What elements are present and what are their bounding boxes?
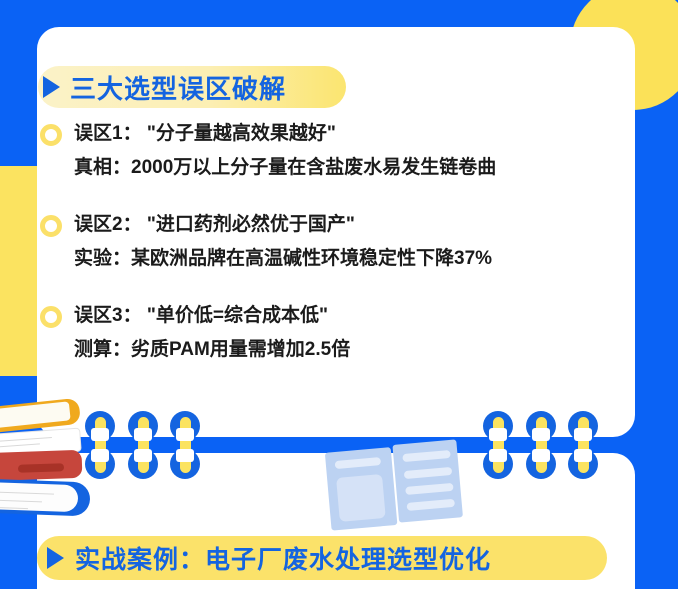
ring-bullet-icon: [40, 306, 62, 328]
page-title-text: 三大选型误区破解: [70, 69, 286, 106]
spiral-binder-ring-icon: [170, 411, 200, 479]
spiral-binder-ring-icon: [568, 411, 598, 479]
spiral-binder-ring-icon: [526, 411, 556, 479]
list-item-body: 误区1： "分子量越高效果越好" 真相：2000万以上分子量在含盐废水易发生链卷…: [74, 120, 496, 182]
myth-detail: 实验：某欧洲品牌在高温碱性环境稳定性下降37%: [74, 245, 492, 274]
poster-canvas: 三大选型误区破解 误区1： "分子量越高效果越好" 真相：2000万以上分子量在…: [0, 0, 678, 589]
triangle-right-icon: [43, 76, 60, 98]
footer-banner-text: 实战案例：电子厂废水处理选型优化: [75, 540, 491, 576]
myth-detail: 真相：2000万以上分子量在含盐废水易发生链卷曲: [74, 154, 496, 183]
stack-of-books-illustration: [0, 404, 110, 544]
list-item-body: 误区3： "单价低=综合成本低" 测算：劣质PAM用量需增加2.5倍: [74, 302, 350, 364]
myth-title: 误区3： "单价低=综合成本低": [74, 302, 350, 331]
footer-banner: 实战案例：电子厂废水处理选型优化: [47, 536, 491, 580]
list-item: 误区3： "单价低=综合成本低" 测算：劣质PAM用量需增加2.5倍: [40, 302, 350, 364]
myth-title: 误区1： "分子量越高效果越好": [74, 120, 496, 149]
myth-title: 误区2： "进口药剂必然优于国产": [74, 211, 492, 240]
list-item: 误区1： "分子量越高效果越好" 真相：2000万以上分子量在含盐废水易发生链卷…: [40, 120, 496, 182]
ring-bullet-icon: [40, 215, 62, 237]
list-item: 误区2： "进口药剂必然优于国产" 实验：某欧洲品牌在高温碱性环境稳定性下降37…: [40, 211, 492, 273]
myth-detail: 测算：劣质PAM用量需增加2.5倍: [74, 336, 350, 365]
page-title: 三大选型误区破解: [43, 66, 286, 108]
yellow-vertical-bar-decoration: [0, 166, 37, 376]
triangle-right-icon: [47, 547, 64, 569]
ring-bullet-icon: [40, 124, 62, 146]
list-item-body: 误区2： "进口药剂必然优于国产" 实验：某欧洲品牌在高温碱性环境稳定性下降37…: [74, 211, 492, 273]
spiral-binder-ring-icon: [128, 411, 158, 479]
spiral-binder-ring-icon: [483, 411, 513, 479]
open-document-illustration: [325, 441, 463, 530]
